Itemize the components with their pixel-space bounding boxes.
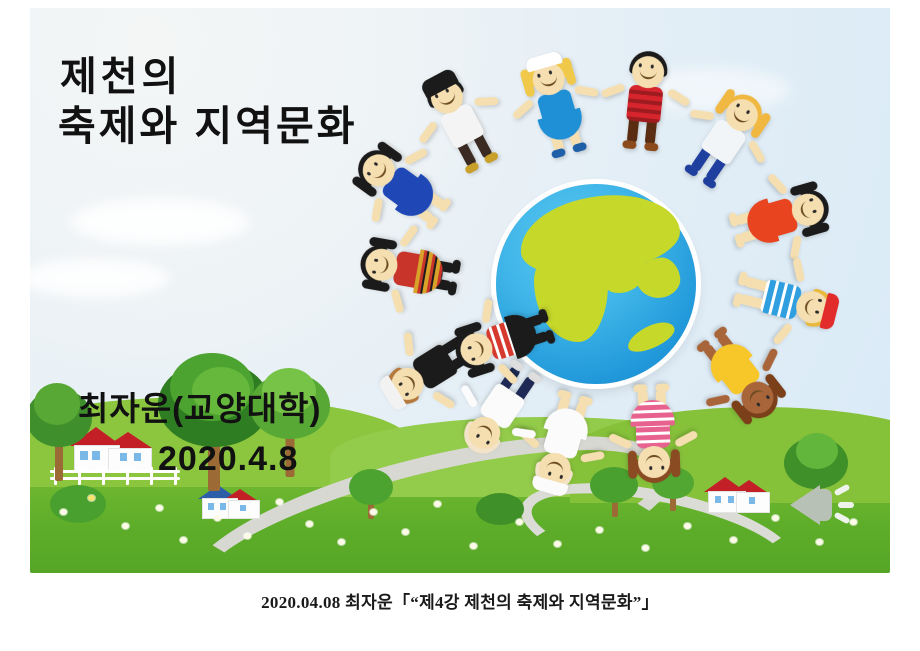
arm — [574, 85, 599, 97]
cloud-shape — [30, 258, 170, 298]
arm — [792, 257, 805, 282]
flower — [88, 495, 95, 501]
flower — [156, 505, 163, 511]
arm — [511, 98, 534, 120]
fence — [150, 467, 153, 485]
child-striped-poncho-girl — [354, 230, 467, 309]
flower — [402, 529, 409, 535]
fence — [102, 467, 105, 485]
flower — [642, 545, 649, 551]
figure-caption: 2020.04.08 최자운「“제4강 제천의 축제와 지역문화”」 — [0, 588, 920, 613]
flower — [554, 541, 561, 547]
arm — [418, 120, 439, 144]
slide-author: 최자운(교양대학) — [78, 382, 322, 430]
flower — [850, 519, 857, 525]
arm — [403, 332, 413, 357]
arm — [600, 83, 625, 99]
eye — [661, 466, 664, 470]
shoe — [732, 292, 743, 308]
smile — [645, 455, 662, 467]
child-sailor-girl — [513, 49, 601, 166]
shoe — [622, 140, 637, 149]
slide-date: 2020.4.8 — [158, 440, 298, 479]
shoe — [633, 384, 647, 392]
arm — [390, 288, 404, 313]
eye — [649, 466, 652, 470]
shoe — [551, 148, 567, 160]
arm — [690, 109, 715, 120]
flower — [276, 499, 283, 505]
shoe — [451, 259, 461, 274]
flower — [596, 527, 603, 533]
flower — [60, 509, 67, 515]
slide-title-line-2: 축제와 지역문화 — [58, 92, 357, 152]
child-pink-stripe-girl — [620, 379, 686, 485]
arm — [431, 390, 456, 410]
arm — [761, 347, 779, 372]
arm — [482, 299, 493, 324]
shoe — [544, 329, 556, 345]
arm — [608, 433, 633, 450]
arm — [580, 451, 605, 463]
hair — [628, 451, 638, 479]
slide-canvas: 제천의 축제와 지역문화 최자운(교양대학) 2020.4.8 — [30, 8, 890, 573]
arm — [674, 430, 699, 448]
flower — [214, 515, 221, 521]
child-red-stripe-boy — [609, 47, 682, 157]
sound-dash — [834, 512, 851, 525]
flower — [730, 537, 737, 543]
flower — [338, 539, 345, 545]
flower — [306, 521, 313, 527]
torso — [759, 279, 802, 321]
sound-dash — [838, 502, 854, 508]
flower — [122, 523, 129, 529]
arm — [705, 394, 730, 407]
flower — [244, 533, 251, 539]
flower — [180, 537, 187, 543]
flower — [816, 539, 823, 545]
arm — [747, 139, 766, 164]
arm — [767, 172, 789, 195]
children-ring — [366, 50, 826, 520]
arm — [474, 97, 498, 106]
shoe — [447, 281, 457, 296]
arm — [403, 147, 428, 165]
flower — [470, 543, 477, 549]
child-flower-dress-girl — [720, 174, 837, 262]
child-checker-apron-girl — [446, 294, 564, 385]
arm — [371, 197, 383, 222]
flower — [684, 523, 691, 529]
cloud-shape — [70, 198, 250, 246]
slide-image: 제천의 축제와 지역문화 최자운(교양대학) 2020.4.8 — [30, 8, 890, 573]
arm — [790, 235, 802, 260]
arm — [772, 322, 794, 346]
arm — [666, 88, 691, 108]
fence — [126, 467, 129, 485]
shoe — [655, 383, 669, 391]
skirt — [630, 399, 675, 427]
arm — [460, 384, 479, 409]
shoe — [644, 142, 659, 151]
torso — [626, 84, 664, 123]
hair — [361, 279, 390, 293]
hair — [671, 449, 681, 477]
tree-illustration — [50, 485, 108, 533]
sound-dash — [834, 484, 851, 497]
